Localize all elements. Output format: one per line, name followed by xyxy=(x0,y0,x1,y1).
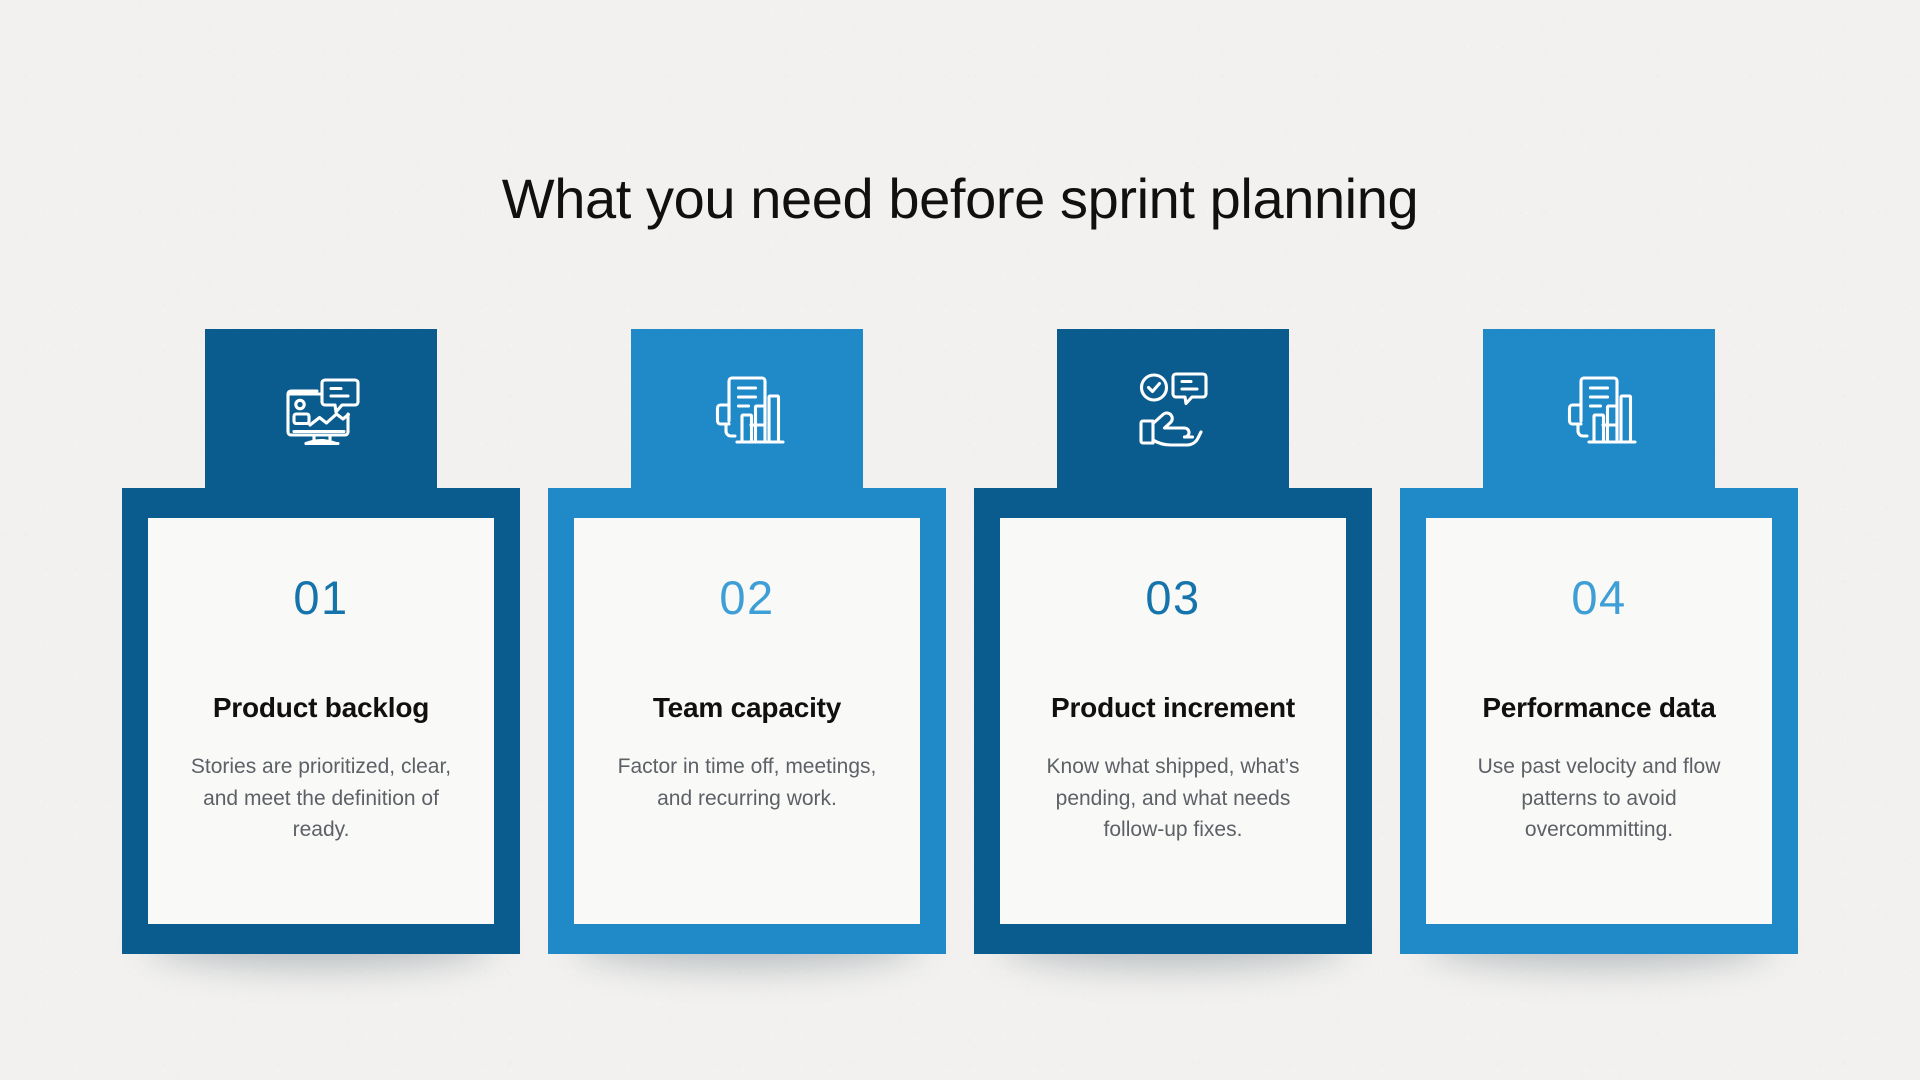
page-title: What you need before sprint planning xyxy=(0,166,1920,231)
card-body: Stories are prioritized, clear, and meet… xyxy=(174,751,468,847)
card-frame: 04 Performance data Use past velocity an… xyxy=(1400,488,1798,954)
card-number: 04 xyxy=(1571,574,1626,621)
card-frame: 02 Team capacity Factor in time off, mee… xyxy=(548,488,946,954)
card-frame: 01 Product backlog Stories are prioritiz… xyxy=(122,488,520,954)
card-product-backlog[interactable]: 01 Product backlog Stories are prioritiz… xyxy=(122,329,520,954)
card-panel: 02 Team capacity Factor in time off, mee… xyxy=(574,518,920,924)
card-row: 01 Product backlog Stories are prioritiz… xyxy=(122,329,1798,954)
card-performance-data[interactable]: 04 Performance data Use past velocity an… xyxy=(1400,329,1798,954)
icon-tab xyxy=(205,329,437,489)
card-title: Team capacity xyxy=(653,691,841,725)
icon-tab xyxy=(1483,329,1715,489)
card-number: 02 xyxy=(719,574,774,621)
document-bar-chart-icon xyxy=(1551,361,1647,457)
card-product-increment[interactable]: 03 Product increment Know what shipped, … xyxy=(974,329,1372,954)
card-frame: 03 Product increment Know what shipped, … xyxy=(974,488,1372,954)
card-panel: 03 Product increment Know what shipped, … xyxy=(1000,518,1346,924)
card-number: 01 xyxy=(293,574,348,621)
card-title: Product increment xyxy=(1051,691,1295,725)
card-title: Performance data xyxy=(1482,691,1715,725)
monitor-chart-comment-icon xyxy=(273,361,369,457)
document-bar-chart-icon xyxy=(699,361,795,457)
card-team-capacity[interactable]: 02 Team capacity Factor in time off, mee… xyxy=(548,329,946,954)
card-panel: 01 Product backlog Stories are prioritiz… xyxy=(148,518,494,924)
card-body: Know what shipped, what’s pending, and w… xyxy=(1026,751,1320,847)
card-title: Product backlog xyxy=(213,691,429,725)
card-body: Use past velocity and flow patterns to a… xyxy=(1452,751,1746,847)
icon-tab xyxy=(631,329,863,489)
card-number: 03 xyxy=(1145,574,1200,621)
hand-check-comment-icon xyxy=(1125,361,1221,457)
card-panel: 04 Performance data Use past velocity an… xyxy=(1426,518,1772,924)
card-body: Factor in time off, meetings, and recurr… xyxy=(600,751,894,815)
icon-tab xyxy=(1057,329,1289,489)
